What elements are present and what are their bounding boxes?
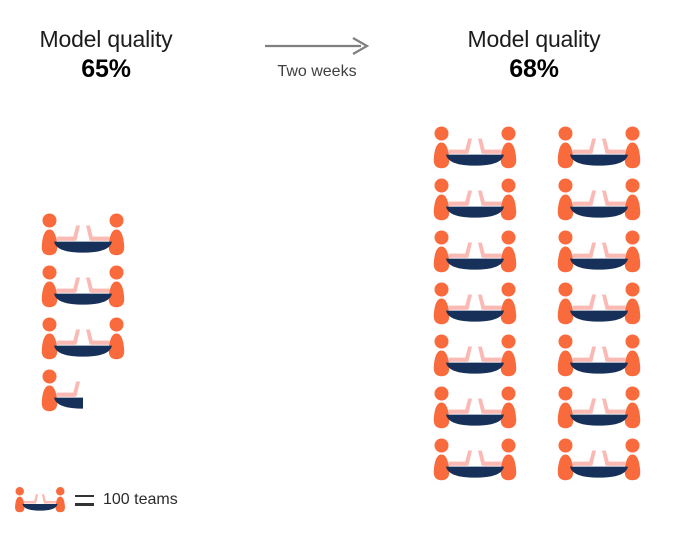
team-boat-icon: [556, 125, 642, 171]
right-pictogram-grid: [432, 125, 677, 483]
team-boat-icon: [556, 229, 642, 275]
team-boat-icon: [432, 333, 518, 379]
pictogram-unit: [40, 264, 126, 310]
pictogram-unit: [432, 333, 518, 379]
pictogram-unit: [432, 229, 518, 275]
right-panel-heading: Model quality 68%: [432, 26, 636, 85]
team-boat-icon: [432, 229, 518, 275]
left-panel-caption: Model quality: [6, 26, 206, 53]
equals-icon: [75, 495, 94, 506]
team-boat-icon: [14, 486, 66, 514]
team-boat-icon: [40, 212, 126, 258]
legend: 100 teams: [14, 486, 178, 514]
right-panel-caption: Model quality: [432, 26, 636, 53]
team-boat-icon: [432, 281, 518, 327]
pictogram-unit: [556, 177, 642, 223]
infographic-canvas: Model quality 65% Two weeks Model qualit…: [0, 0, 677, 535]
team-boat-icon: [432, 385, 518, 431]
pictogram-unit: [432, 385, 518, 431]
team-boat-icon: [432, 437, 518, 483]
team-boat-icon: [40, 264, 126, 310]
pictogram-unit: [40, 316, 126, 362]
team-boat-icon: [556, 385, 642, 431]
pictogram-unit: [40, 212, 126, 258]
team-boat-icon: [432, 177, 518, 223]
pictogram-unit: [556, 229, 642, 275]
transition-group: Two weeks: [252, 36, 382, 81]
team-boat-icon: [556, 437, 642, 483]
left-panel-heading: Model quality 65%: [6, 26, 206, 85]
pictogram-unit: [432, 125, 518, 171]
pictogram-unit: [556, 281, 642, 327]
left-pictogram-grid: [40, 212, 126, 414]
team-boat-icon: [40, 316, 126, 362]
pictogram-unit: [556, 437, 642, 483]
pictogram-unit: [556, 333, 642, 379]
pictogram-unit: [556, 385, 642, 431]
arrow-right-icon: [263, 36, 371, 56]
team-boat-icon: [432, 125, 518, 171]
team-boat-icon: [556, 281, 642, 327]
pictogram-unit-partial: [40, 368, 83, 414]
right-panel-value: 68%: [432, 55, 636, 85]
pictogram-unit: [432, 437, 518, 483]
transition-label: Two weeks: [252, 63, 382, 81]
team-boat-icon: [40, 368, 83, 414]
pictogram-unit: [432, 281, 518, 327]
team-boat-icon: [556, 177, 642, 223]
pictogram-unit: [432, 177, 518, 223]
left-panel-value: 65%: [6, 55, 206, 85]
pictogram-unit: [556, 125, 642, 171]
team-boat-icon: [556, 333, 642, 379]
legend-label: 100 teams: [103, 491, 178, 509]
legend-team-boat-icon: [14, 486, 66, 514]
